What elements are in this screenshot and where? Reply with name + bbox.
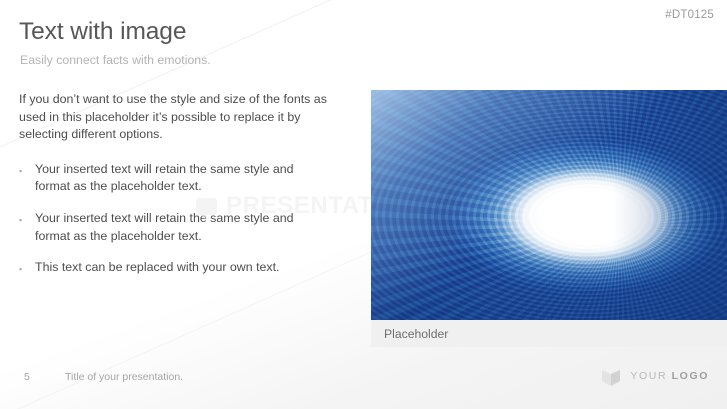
logo-brand: LOGO	[672, 370, 709, 382]
page-number: 5	[24, 371, 30, 383]
list-item-text: This text can be replaced with your own …	[35, 259, 331, 277]
intro-paragraph: If you don’t want to use the style and s…	[19, 91, 331, 144]
page-title: Text with image	[19, 18, 186, 46]
image-frame[interactable]	[371, 90, 727, 320]
logo-text: YOUR LOGO	[630, 370, 709, 382]
tunnel-image-vignette	[371, 90, 727, 320]
list-item-text: Your inserted text will retain the same …	[35, 210, 331, 245]
list-item[interactable]: ▪ Your inserted text will retain the sam…	[19, 210, 331, 245]
logo-word: YOUR	[630, 370, 671, 382]
slide-id-code: #DT0125	[665, 9, 714, 21]
cube-logo-icon	[601, 365, 621, 387]
bullet-marker-icon: ▪	[19, 259, 35, 274]
image-caption-bar: Placeholder	[371, 320, 727, 347]
image-caption-text: Placeholder	[384, 327, 448, 341]
image-placeholder-block[interactable]: Placeholder	[371, 90, 727, 347]
page-subtitle: Easily connect facts with emotions.	[20, 53, 211, 67]
list-item[interactable]: ▪ Your inserted text will retain the sam…	[19, 161, 331, 196]
bullet-list: ▪ Your inserted text will retain the sam…	[19, 161, 331, 277]
bullet-marker-icon: ▪	[19, 161, 35, 176]
footer-presentation-title: Title of your presentation.	[65, 371, 183, 383]
text-content-column: If you don’t want to use the style and s…	[19, 91, 331, 277]
list-item[interactable]: ▪ This text can be replaced with your ow…	[19, 259, 331, 277]
presentation-slide: #DT0125 Text with image Easily connect f…	[0, 0, 727, 409]
bullet-marker-icon: ▪	[19, 210, 35, 225]
list-item-text: Your inserted text will retain the same …	[35, 161, 331, 196]
logo-area[interactable]: YOUR LOGO	[601, 365, 709, 387]
